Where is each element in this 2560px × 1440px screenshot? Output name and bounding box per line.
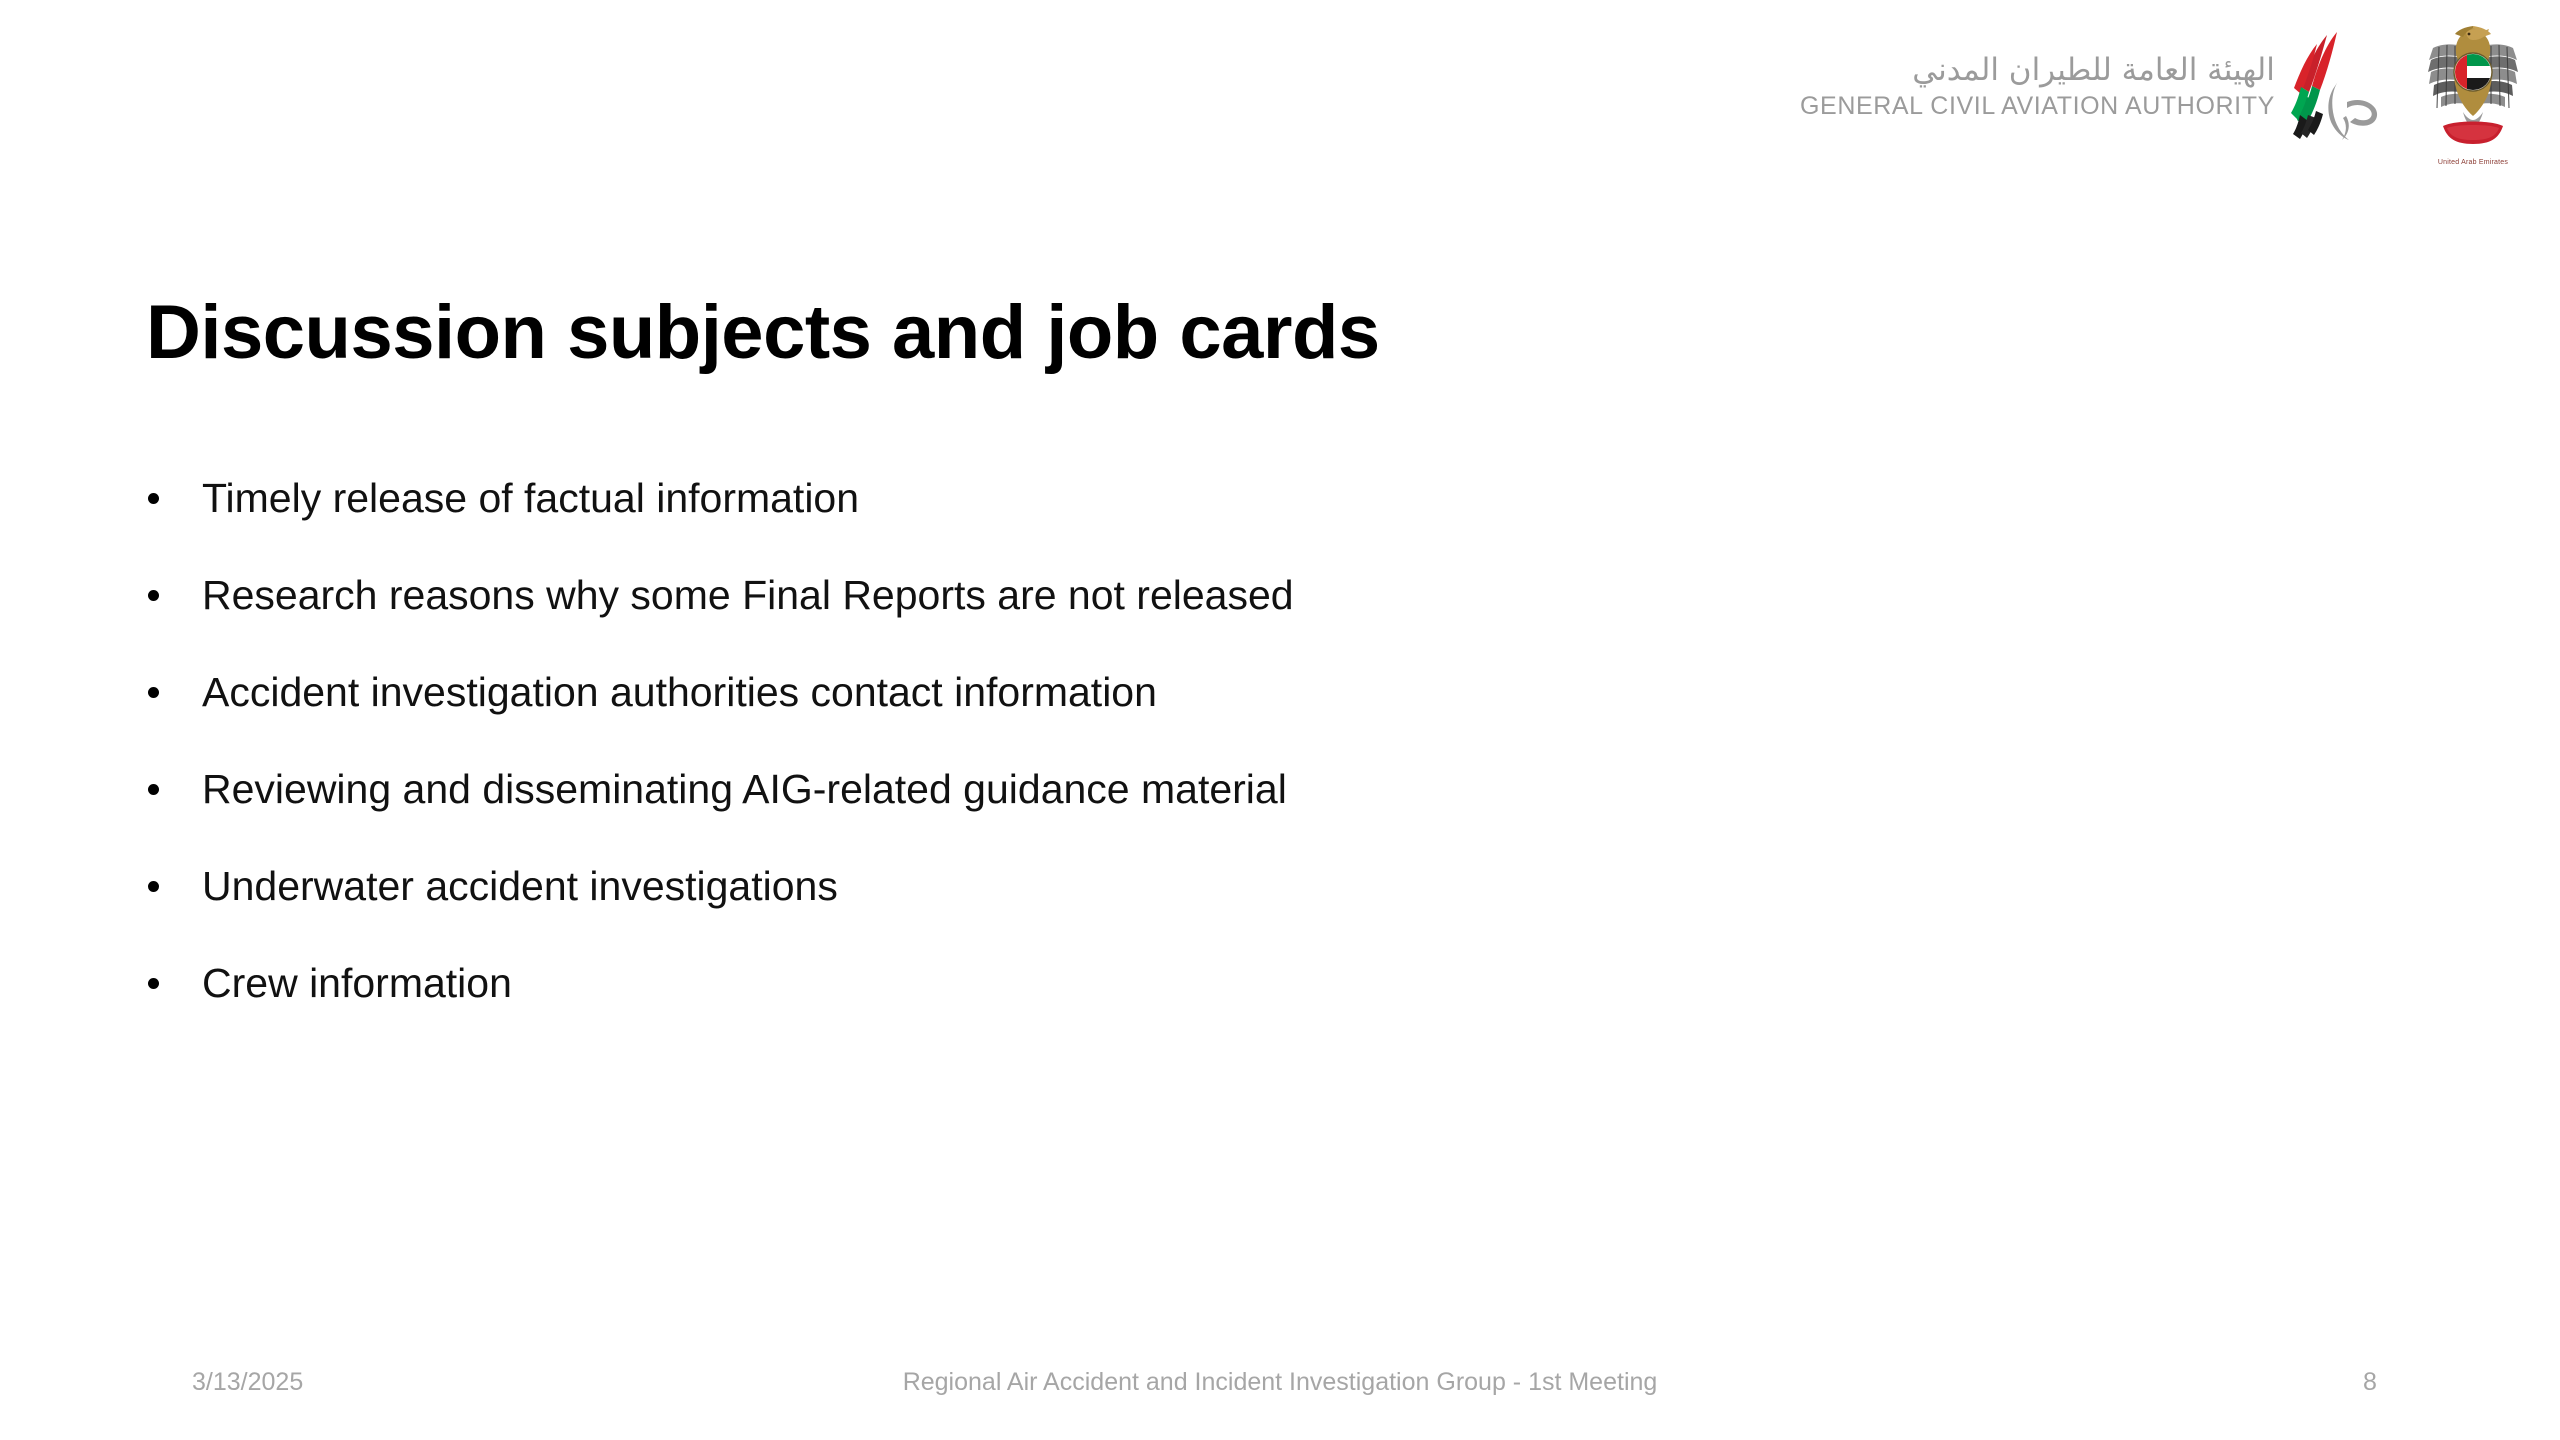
bullet-dot-icon [148,978,159,989]
list-item-label: Research reasons why some Final Reports … [202,572,1294,618]
slide-header-logos: الهيئة العامة للطيران المدني GENERAL CIV… [1740,0,2560,200]
list-item-label: Crew information [202,960,512,1006]
slide-footer: 3/13/2025 Regional Air Accident and Inci… [0,1368,2560,1408]
gcaa-arabic-name: الهيئة العامة للطيران المدني [1912,53,2275,89]
gcaa-wing-falcon-icon [2289,28,2381,146]
list-item-label: Accident investigation authorities conta… [202,669,1157,715]
list-item: Reviewing and disseminating AIG-related … [146,759,2346,856]
presentation-slide: الهيئة العامة للطيران المدني GENERAL CIV… [0,0,2560,1440]
list-item-label: Timely release of factual information [202,475,859,521]
list-item: Underwater accident investigations [146,856,2346,953]
footer-meeting-title: Regional Air Accident and Incident Inves… [0,1368,2560,1397]
list-item: Timely release of factual information [146,468,2346,565]
slide-title: Discussion subjects and job cards [146,291,2346,375]
gcaa-english-name: GENERAL CIVIL AVIATION AUTHORITY [1800,91,2275,121]
bullet-dot-icon [148,590,159,601]
bullet-dot-icon [148,881,159,892]
list-item-label: Underwater accident investigations [202,863,838,909]
bullet-dot-icon [148,687,159,698]
gcaa-wordmark: الهيئة العامة للطيران المدني GENERAL CIV… [1800,53,2275,121]
list-item-label: Reviewing and disseminating AIG-related … [202,766,1287,812]
list-item: Accident investigation authorities conta… [146,662,2346,759]
uae-national-emblem: United Arab Emirates [2425,16,2521,176]
gcaa-logo: الهيئة العامة للطيران المدني GENERAL CIV… [1800,28,2381,146]
bullet-dot-icon [148,784,159,795]
bullet-list: Timely release of factual information Re… [146,468,2346,1050]
list-item: Crew information [146,953,2346,1050]
bullet-dot-icon [148,493,159,504]
uae-emblem-caption: United Arab Emirates [2438,159,2508,166]
list-item: Research reasons why some Final Reports … [146,565,2346,662]
slide-page-number: 8 [2340,1368,2400,1397]
